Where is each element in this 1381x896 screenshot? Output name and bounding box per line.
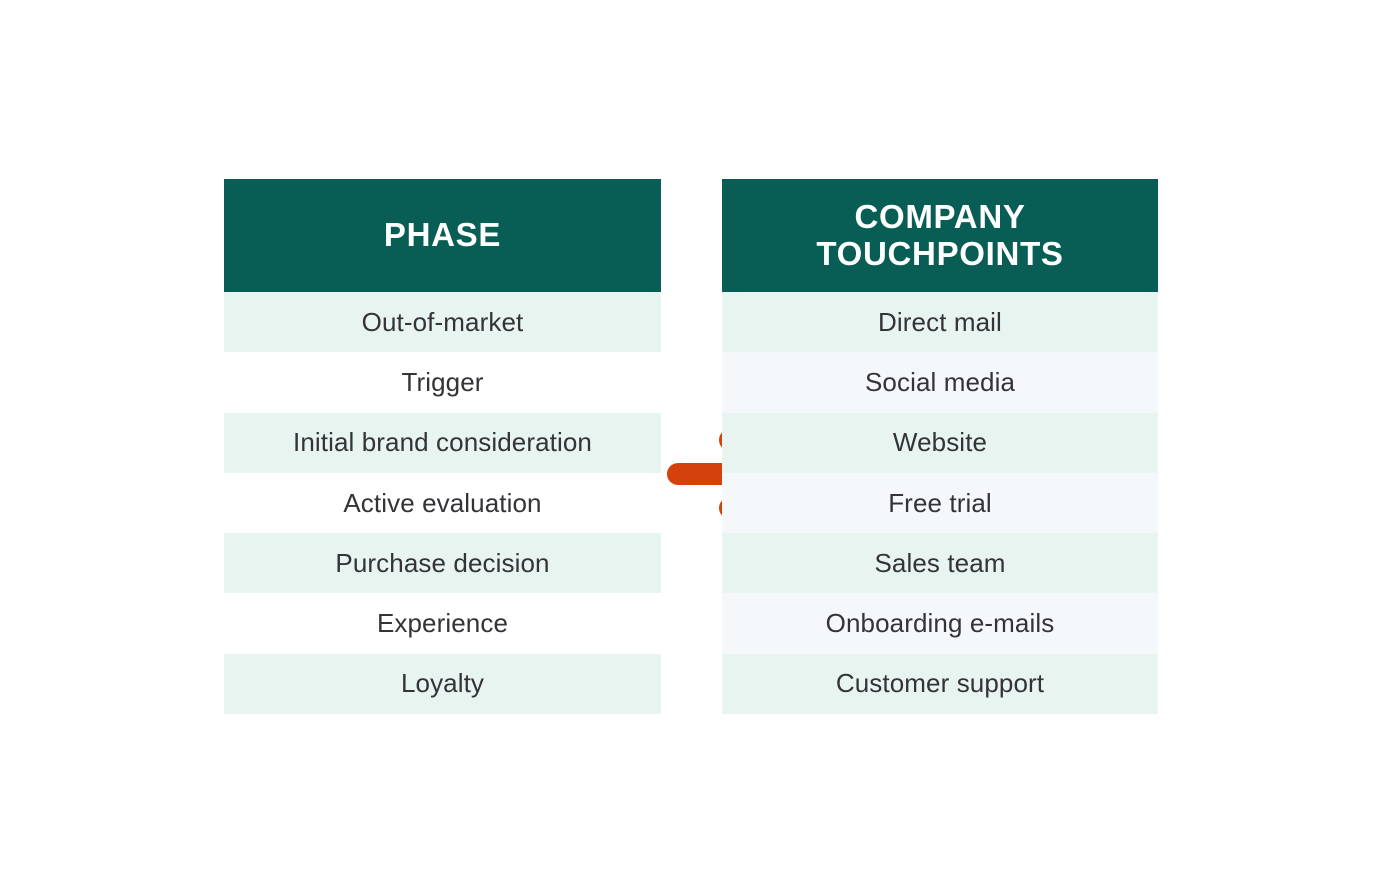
- phase-row-label: Initial brand consideration: [293, 427, 592, 458]
- touchpoint-row-label: Customer support: [836, 668, 1044, 699]
- phase-table-body: Out-of-market Trigger Initial brand cons…: [224, 292, 661, 714]
- touchpoint-row: Social media: [722, 352, 1158, 412]
- phase-row: Trigger: [224, 352, 661, 412]
- touchpoint-row: Customer support: [722, 654, 1158, 714]
- touchpoint-row: Website: [722, 413, 1158, 473]
- touchpoint-row: Direct mail: [722, 292, 1158, 352]
- touchpoint-row-label: Website: [893, 427, 987, 458]
- company-touchpoints-header-line1: COMPANY: [854, 198, 1025, 235]
- phase-row: Purchase decision: [224, 533, 661, 593]
- phase-row-label: Active evaluation: [343, 488, 541, 519]
- phase-row-label: Purchase decision: [335, 548, 549, 579]
- company-touchpoints-table-header: COMPANY TOUCHPOINTS: [722, 179, 1158, 292]
- touchpoint-row-label: Onboarding e-mails: [826, 608, 1055, 639]
- phase-row: Initial brand consideration: [224, 413, 661, 473]
- touchpoint-row: Onboarding e-mails: [722, 593, 1158, 653]
- touchpoint-row-label: Free trial: [888, 488, 992, 519]
- touchpoint-row-label: Sales team: [874, 548, 1005, 579]
- phase-row-label: Trigger: [401, 367, 483, 398]
- phase-table: PHASE Out-of-market Trigger Initial bran…: [224, 179, 661, 714]
- company-touchpoints-header-label: COMPANY TOUCHPOINTS: [816, 199, 1063, 273]
- touchpoint-row: Sales team: [722, 533, 1158, 593]
- company-touchpoints-table-body: Direct mail Social media Website Free tr…: [722, 292, 1158, 714]
- phase-table-header: PHASE: [224, 179, 661, 292]
- company-touchpoints-table: COMPANY TOUCHPOINTS Direct mail Social m…: [722, 179, 1158, 714]
- phase-row-label: Out-of-market: [362, 307, 524, 338]
- phase-row: Experience: [224, 593, 661, 653]
- touchpoint-row: Free trial: [722, 473, 1158, 533]
- touchpoint-row-label: Direct mail: [878, 307, 1002, 338]
- touchpoint-row-label: Social media: [865, 367, 1015, 398]
- phase-header-label: PHASE: [384, 217, 501, 254]
- company-touchpoints-header-line2: TOUCHPOINTS: [816, 235, 1063, 272]
- diagram-canvas: PHASE Out-of-market Trigger Initial bran…: [0, 0, 1381, 896]
- phase-row: Loyalty: [224, 654, 661, 714]
- phase-row: Active evaluation: [224, 473, 661, 533]
- phase-row: Out-of-market: [224, 292, 661, 352]
- phase-row-label: Experience: [377, 608, 508, 639]
- phase-row-label: Loyalty: [401, 668, 484, 699]
